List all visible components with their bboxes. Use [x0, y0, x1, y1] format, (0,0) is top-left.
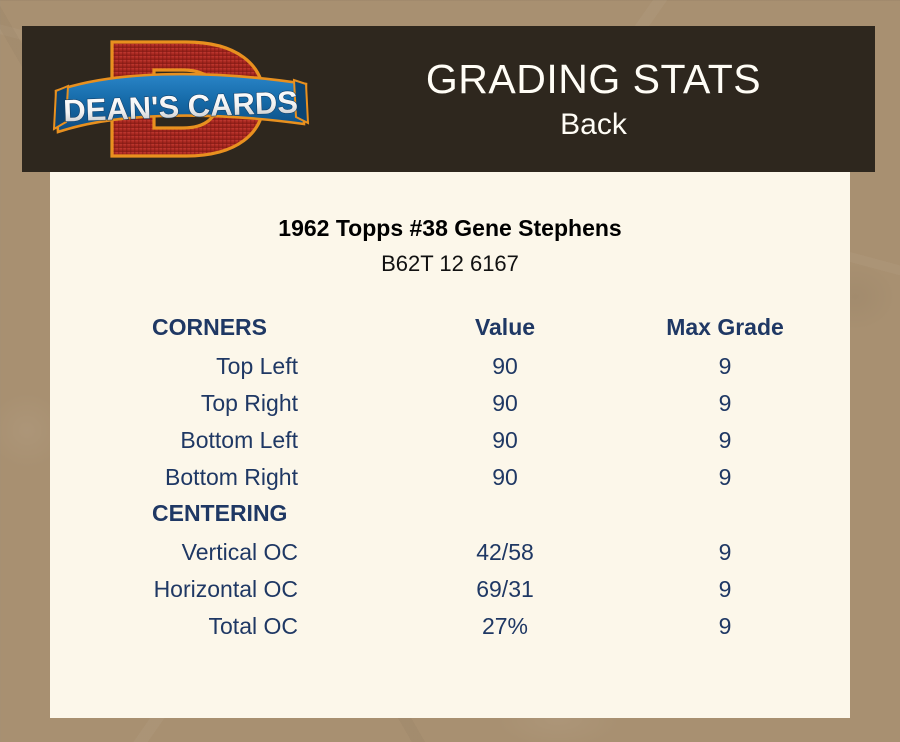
row-label: Horizontal OC [50, 571, 410, 608]
grading-stats-table: CORNERS Value Max Grade Top Left 90 9 To… [50, 310, 850, 645]
table-row: Top Right 90 9 [50, 385, 850, 422]
content-panel: 1962 Topps #38 Gene Stephens B62T 12 616… [50, 172, 850, 718]
row-value: 90 [410, 459, 600, 496]
table-header-row: CORNERS Value Max Grade [50, 310, 850, 348]
table-row: Top Left 90 9 [50, 348, 850, 385]
column-header-value: Value [410, 310, 600, 348]
row-value: 69/31 [410, 571, 600, 608]
table-row: Horizontal OC 69/31 9 [50, 571, 850, 608]
row-label: Vertical OC [50, 534, 410, 571]
page-subtitle: Back [560, 106, 627, 144]
table-row: Bottom Right 90 9 [50, 459, 850, 496]
row-max-grade: 9 [600, 534, 850, 571]
row-max-grade: 9 [600, 571, 850, 608]
row-value: 27% [410, 608, 600, 645]
section-header-spacer-grade [600, 496, 850, 534]
table-row: Bottom Left 90 9 [50, 422, 850, 459]
card-identifier: B62T 12 6167 [50, 250, 850, 278]
row-label: Top Left [50, 348, 410, 385]
header-title-group: GRADING STATS Back [322, 26, 875, 172]
section-header-centering: CENTERING [50, 496, 410, 534]
row-label: Bottom Left [50, 422, 410, 459]
row-value: 90 [410, 385, 600, 422]
section-header-spacer-value [410, 496, 600, 534]
page-title: GRADING STATS [426, 55, 761, 103]
header-bar: DEAN'S CARDS GRADING STATS Back [22, 26, 875, 172]
card-title: 1962 Topps #38 Gene Stephens [50, 214, 850, 242]
section-header-corners: CORNERS [50, 310, 410, 348]
table-row: Vertical OC 42/58 9 [50, 534, 850, 571]
row-max-grade: 9 [600, 348, 850, 385]
row-max-grade: 9 [600, 422, 850, 459]
table-head: CORNERS Value Max Grade [50, 310, 850, 348]
row-value: 90 [410, 348, 600, 385]
logo-graphic: DEAN'S CARDS [50, 28, 312, 170]
row-value: 42/58 [410, 534, 600, 571]
row-label: Total OC [50, 608, 410, 645]
deans-cards-logo[interactable]: DEAN'S CARDS [50, 28, 312, 170]
centering-section-body: CENTERING Vertical OC 42/58 9 Horizontal… [50, 496, 850, 645]
row-label: Bottom Right [50, 459, 410, 496]
table-row: Total OC 27% 9 [50, 608, 850, 645]
row-max-grade: 9 [600, 459, 850, 496]
corners-section-body: Top Left 90 9 Top Right 90 9 Bottom Left… [50, 348, 850, 496]
row-label: Top Right [50, 385, 410, 422]
row-max-grade: 9 [600, 608, 850, 645]
section-header-row: CENTERING [50, 496, 850, 534]
column-header-max-grade: Max Grade [600, 310, 850, 348]
row-max-grade: 9 [600, 385, 850, 422]
row-value: 90 [410, 422, 600, 459]
